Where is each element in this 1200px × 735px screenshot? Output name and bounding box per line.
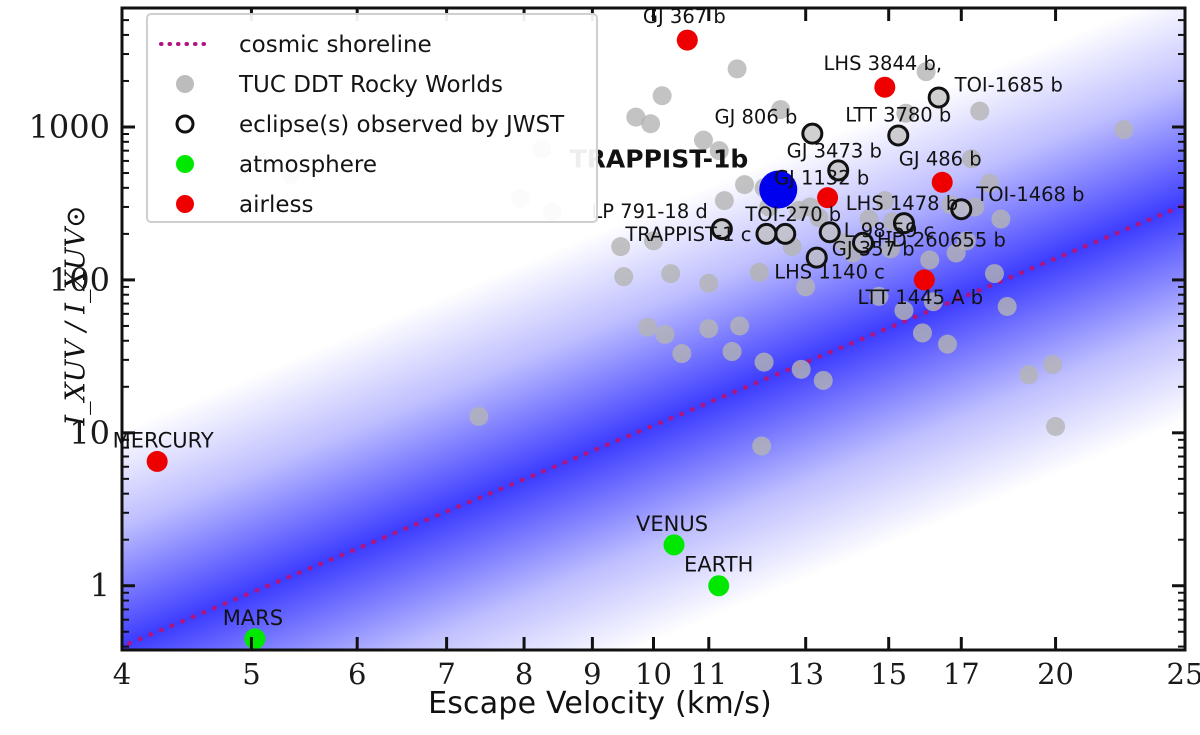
x-tick-label: 17 xyxy=(943,657,980,691)
point-label: LTT 3780 b xyxy=(845,103,951,126)
point-label: LHS 1140 c xyxy=(774,260,885,283)
point-label: LHS 1478 b xyxy=(846,192,958,215)
point-label: GJ 1132 b xyxy=(774,167,869,190)
legend-entry-label: cosmic shoreline xyxy=(239,32,432,58)
x-tick-label: 11 xyxy=(690,657,727,691)
point-label: LHS 3844 b, xyxy=(824,52,943,75)
y-tick-label: 1 xyxy=(90,567,110,605)
legend: cosmic shorelineTUC DDT Rocky Worldsecli… xyxy=(147,14,597,222)
x-tick-label: 9 xyxy=(583,657,601,691)
point-label: GJ 486 b xyxy=(899,147,982,170)
scatter-plot: GJ 367 bLHS 3844 b,TOI-1685 bLTT 3780 bG… xyxy=(0,0,1200,735)
x-tick-label: 6 xyxy=(348,657,366,691)
x-tick-label: 13 xyxy=(787,657,824,691)
y-tick-label: 1000 xyxy=(29,108,110,146)
legend-entry-label: atmosphere xyxy=(239,152,377,178)
point-label: GJ 3473 b xyxy=(787,139,882,162)
x-tick-label: 20 xyxy=(1037,657,1074,691)
x-tick-label: 8 xyxy=(515,657,533,691)
solar-system-label: EARTH xyxy=(684,553,753,577)
x-tick-label: 25 xyxy=(1167,657,1200,691)
x-tick-label: 15 xyxy=(870,657,907,691)
solar-system-label: VENUS xyxy=(636,512,708,536)
x-tick-label: 7 xyxy=(437,657,455,691)
x-tick-label: 5 xyxy=(242,657,260,691)
point-label: TRAPPIST-1 c xyxy=(624,223,751,246)
point-label: GJ 806 b xyxy=(714,106,797,129)
point-label: LTT 1445 A b xyxy=(858,286,984,309)
x-tick-label: 4 xyxy=(113,657,131,691)
y-tick-label: 10 xyxy=(69,414,110,452)
legend-entry-label: eclipse(s) observed by JWST xyxy=(239,112,565,138)
legend-entry-label: airless xyxy=(239,192,313,218)
point-label: TOI-270 b xyxy=(744,203,841,226)
x-tick-label: 10 xyxy=(635,657,672,691)
solar-system-label: MARS xyxy=(223,606,283,630)
figure-root: I_XUV / I_XUV⊙ Escape Velocity (km/s) GJ… xyxy=(0,0,1200,735)
y-tick-label: 100 xyxy=(49,261,110,299)
point-label: GJ 357 b xyxy=(832,238,915,261)
point-label: TOI-1468 b xyxy=(975,183,1084,206)
point-label: TOI-1685 b xyxy=(954,73,1063,96)
point-label: LP 791-18 d xyxy=(591,200,707,223)
legend-entry-label: TUC DDT Rocky Worlds xyxy=(238,72,503,98)
